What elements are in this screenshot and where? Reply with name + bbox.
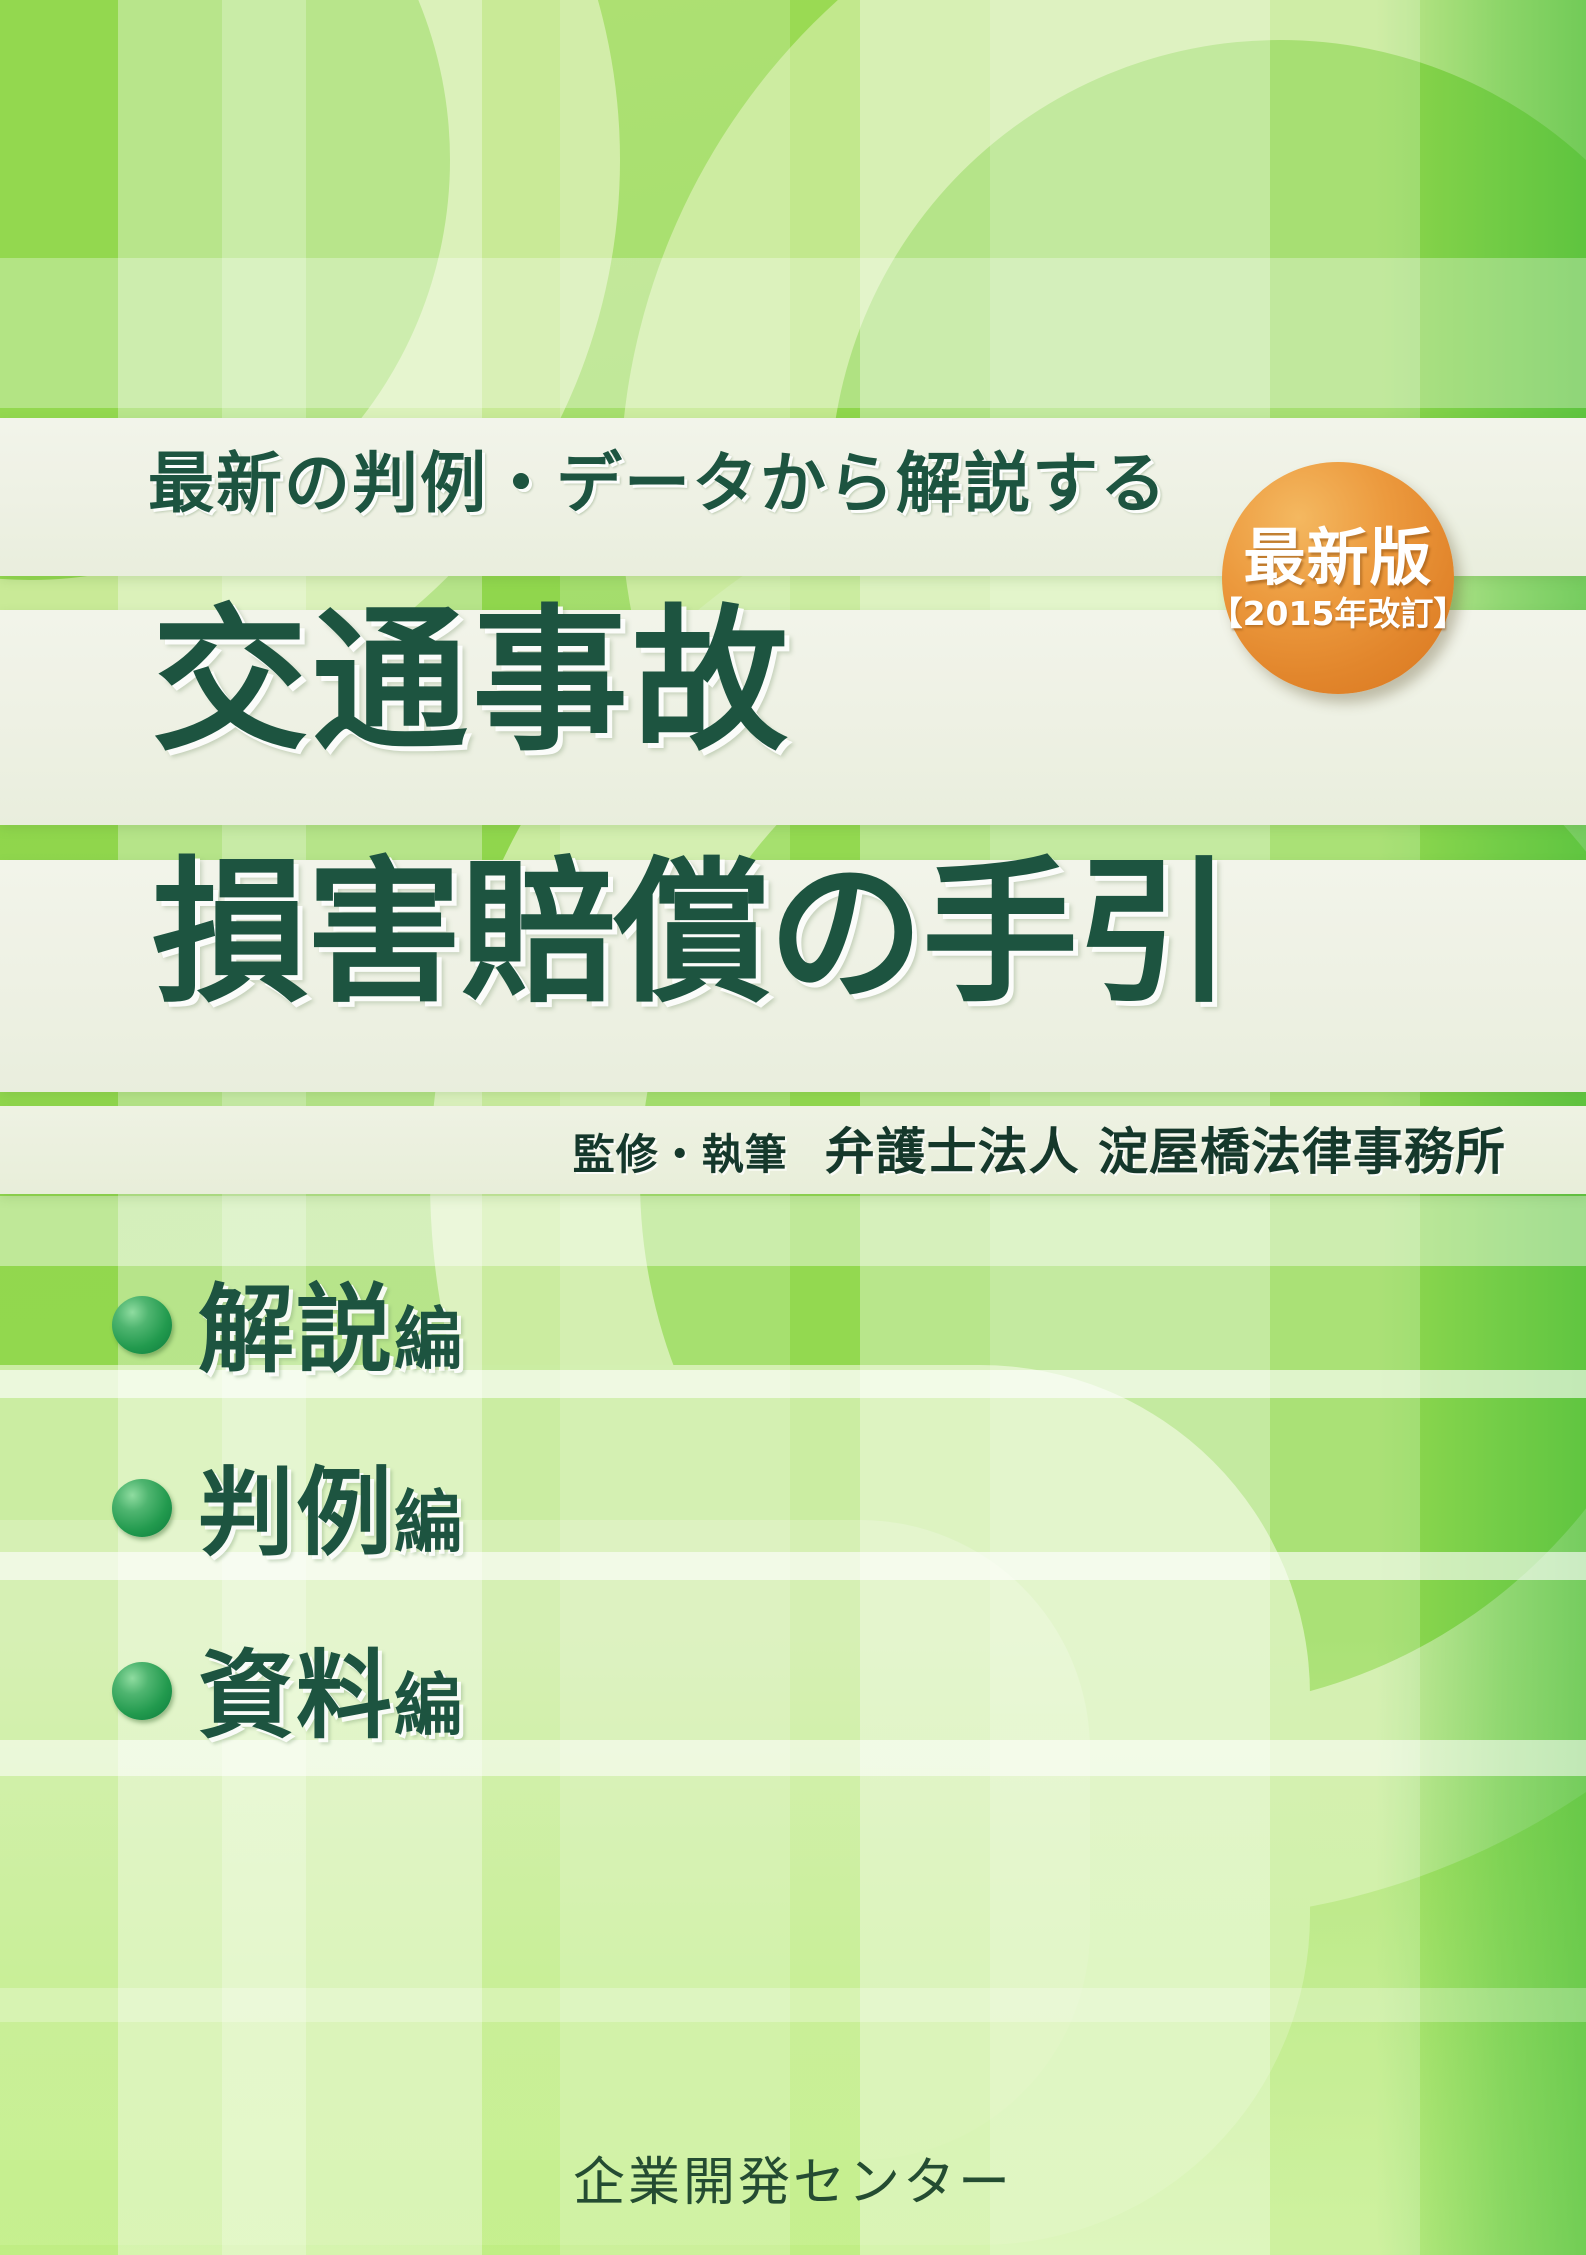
section-name-1: 解説 (198, 1274, 394, 1386)
section-suffix-1: 編 (394, 1301, 462, 1380)
badge-sub-label: 【2015年改訂】 (1210, 597, 1467, 630)
list-item: 判例編 (0, 1413, 1586, 1596)
green-sphere-bullet-icon (112, 1479, 172, 1537)
section-suffix-2: 編 (394, 1484, 462, 1563)
plaid-horizontal-band-6 (0, 1988, 1586, 2022)
list-item: 資料編 (0, 1596, 1586, 1779)
section-label-1: 解説編 (198, 1252, 462, 1391)
author-credit: 監修・執筆 弁護士法人 淀屋橋法律事務所 (573, 1112, 1506, 1184)
publisher-name: 企業開発センター (0, 2140, 1586, 2215)
cover-title-line1: 交通事故 (152, 600, 792, 764)
author-credit-label: 監修・執筆 (573, 1130, 788, 1179)
section-name-3: 資料 (198, 1640, 394, 1752)
section-suffix-3: 編 (394, 1667, 462, 1746)
cover-subtitle: 最新の判例・データから解説する (148, 430, 1168, 526)
plaid-horizontal-band-1 (0, 258, 1586, 408)
section-name-2: 判例 (198, 1457, 394, 1569)
author-org-type: 弁護士法人 (825, 1123, 1080, 1181)
list-item: 解説編 (0, 1230, 1586, 1413)
section-label-2: 判例編 (198, 1435, 462, 1574)
book-cover: 最新の判例・データから解説する 交通事故 損害賠償の手引 監修・執筆 弁護士法人… (0, 0, 1586, 2255)
green-sphere-bullet-icon (112, 1662, 172, 1720)
badge-main-label: 最新版 (1243, 527, 1432, 589)
section-label-3: 資料編 (198, 1618, 462, 1757)
cover-title-line2: 損害賠償の手引 (152, 852, 1230, 1016)
green-sphere-bullet-icon (112, 1296, 172, 1354)
section-list: 解説編 判例編 資料編 (0, 1230, 1586, 1779)
newest-edition-badge: 最新版 【2015年改訂】 (1222, 462, 1454, 694)
author-org-name: 淀屋橋法律事務所 (1098, 1123, 1506, 1181)
